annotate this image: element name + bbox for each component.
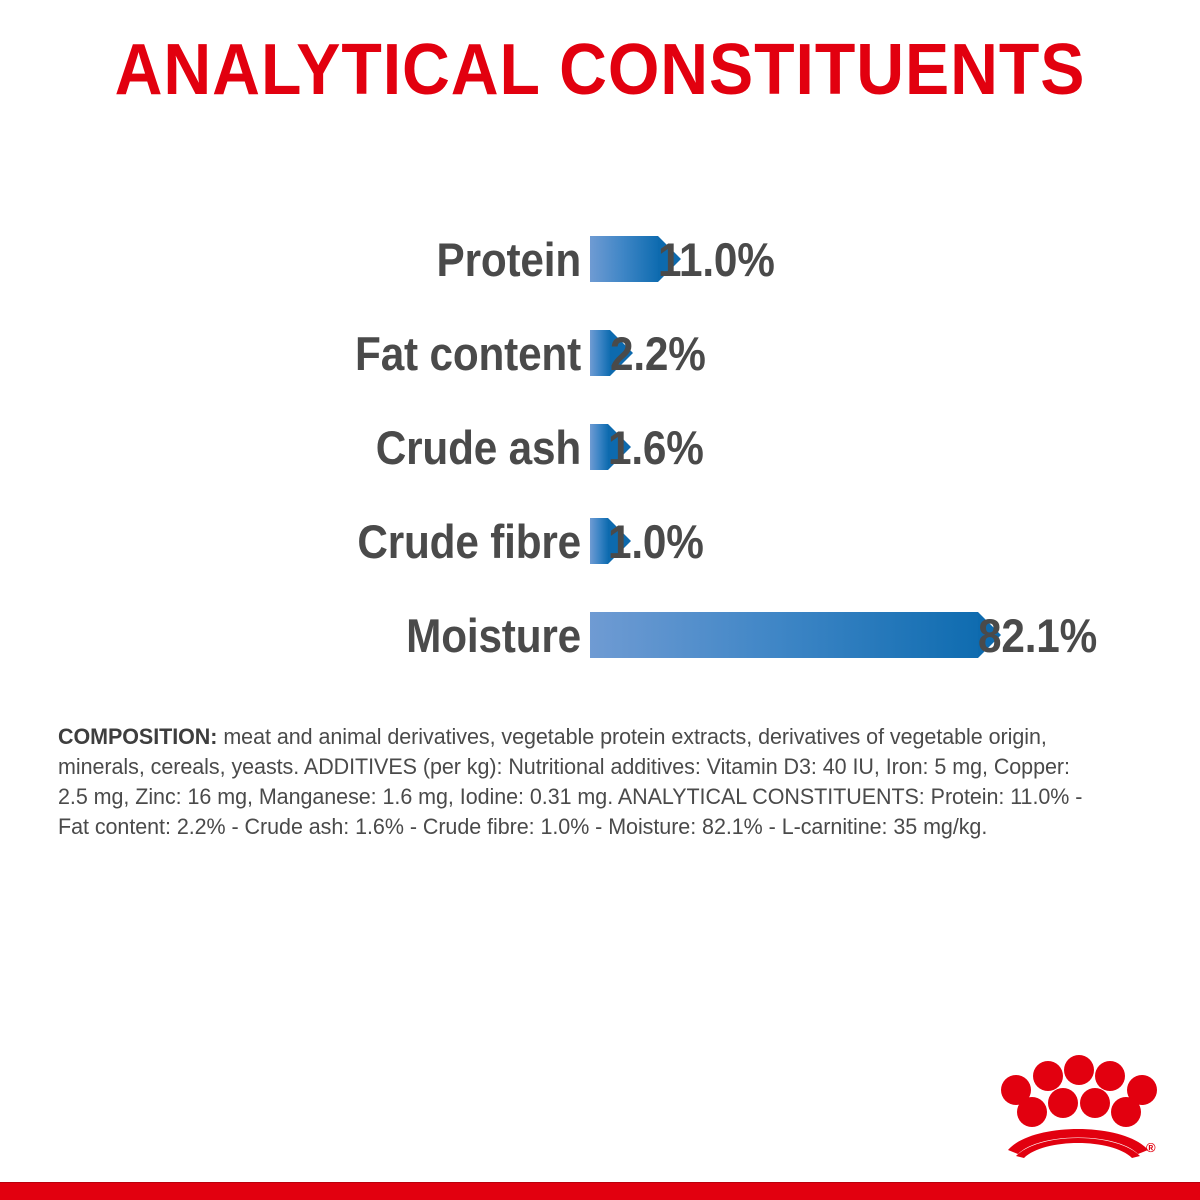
constituent-bar-wrap xyxy=(590,612,978,658)
constituent-bar-wrap xyxy=(590,518,608,564)
analytical-constituents-panel: ANALYTICAL CONSTITUENTS Protein 11.0% Fa… xyxy=(0,0,1200,1200)
constituent-label: Crude ash xyxy=(59,424,590,471)
registered-mark: ® xyxy=(1146,1140,1156,1155)
constituent-bar xyxy=(590,518,608,564)
constituent-bar-wrap xyxy=(590,330,610,376)
constituent-label: Fat content xyxy=(59,330,590,377)
constituent-label: Crude fibre xyxy=(59,518,590,565)
constituent-label: Protein xyxy=(59,236,590,283)
constituent-value: 1.6% xyxy=(608,424,704,471)
constituent-bar xyxy=(590,612,978,658)
constituent-label: Moisture xyxy=(59,612,590,659)
constituent-bar xyxy=(590,424,608,470)
page-title: ANALYTICAL CONSTITUENTS xyxy=(48,34,1152,106)
constituent-bar-wrap xyxy=(590,236,658,282)
constituent-row-fat-content: Fat content 2.2% xyxy=(0,306,1200,400)
composition-paragraph: COMPOSITION: meat and animal derivatives… xyxy=(58,722,1101,842)
constituent-row-protein: Protein 11.0% xyxy=(0,212,1200,306)
constituent-row-moisture: Moisture 82.1% xyxy=(0,588,1200,682)
constituent-bar xyxy=(590,330,610,376)
constituent-value: 11.0% xyxy=(658,236,775,283)
constituent-value: 1.0% xyxy=(608,518,704,565)
constituents-chart: Protein 11.0% Fat content 2.2% Crude ash… xyxy=(0,212,1200,682)
constituent-value: 2.2% xyxy=(610,330,706,377)
composition-heading: COMPOSITION: xyxy=(58,724,217,749)
constituent-bar-wrap xyxy=(590,424,608,470)
constituent-bar xyxy=(590,236,658,282)
constituent-value: 82.1% xyxy=(978,612,1097,659)
bottom-red-bar xyxy=(0,1182,1200,1200)
constituent-row-crude-ash: Crude ash 1.6% xyxy=(0,400,1200,494)
royal-canin-crown-logo: ® xyxy=(998,1046,1158,1158)
constituent-row-crude-fibre: Crude fibre 1.0% xyxy=(0,494,1200,588)
